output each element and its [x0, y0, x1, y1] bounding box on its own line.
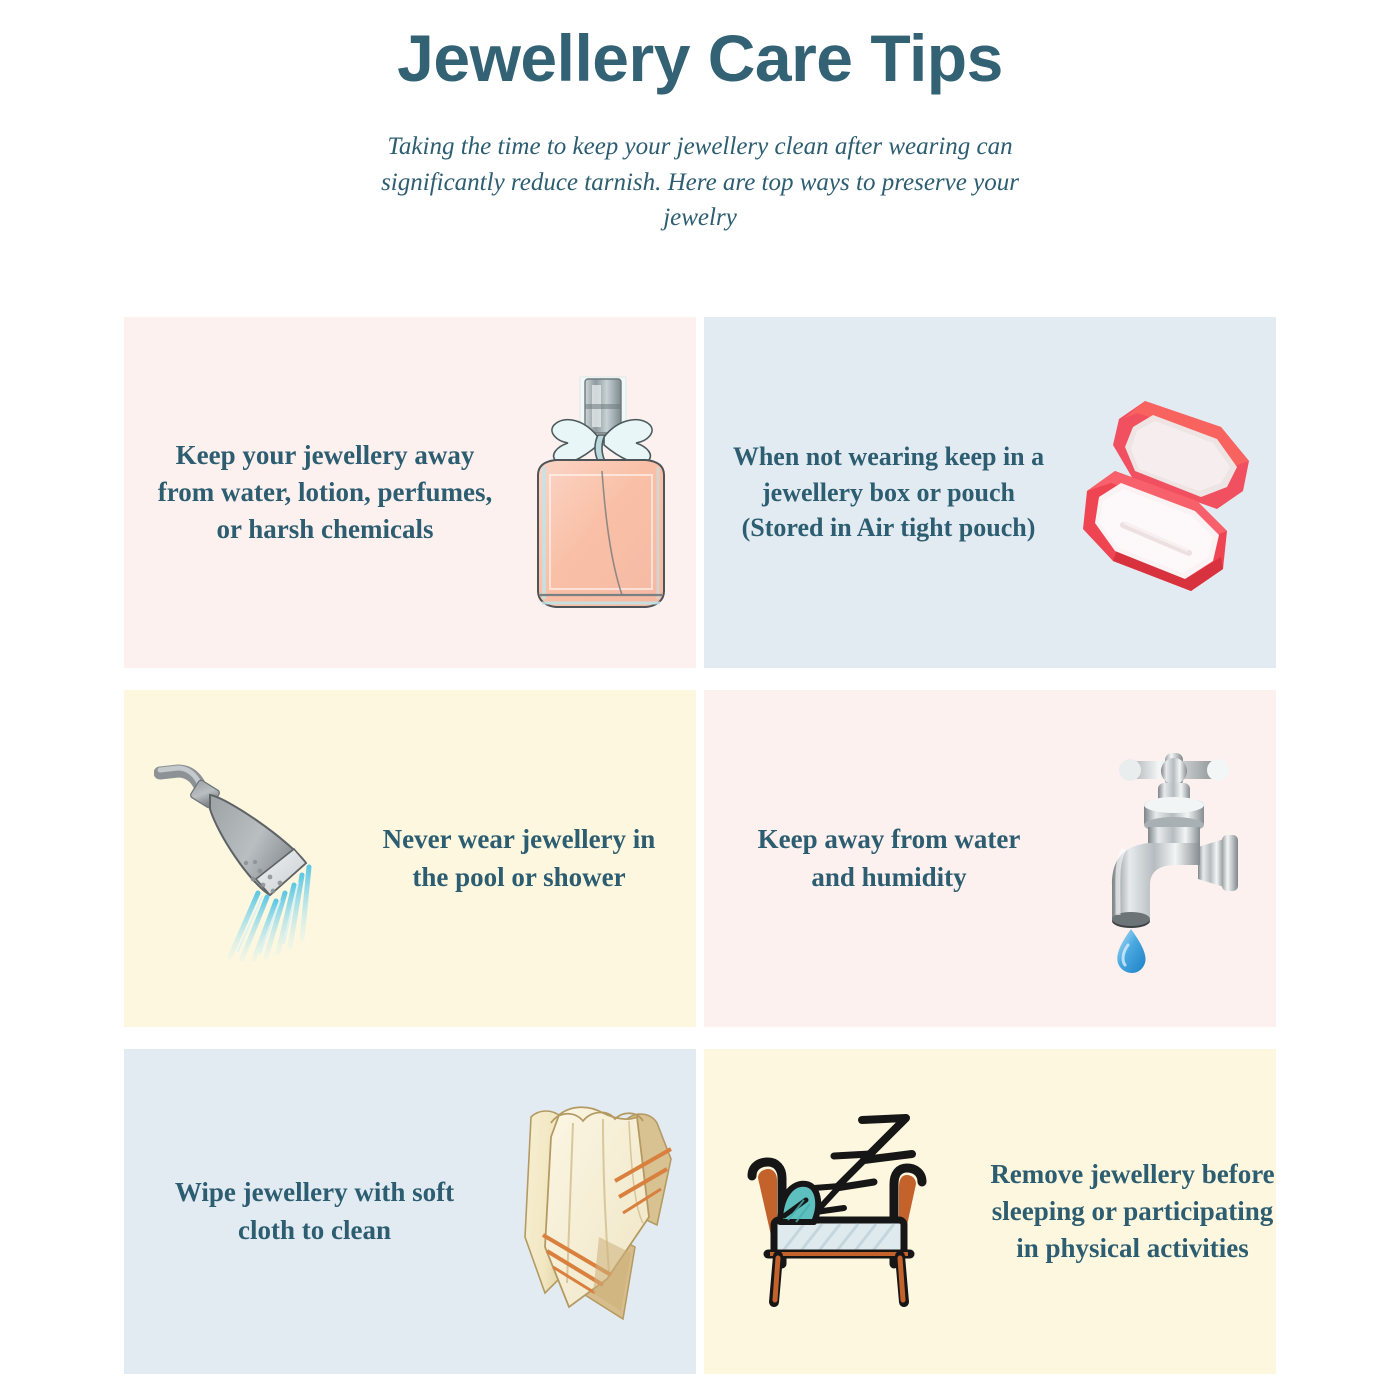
- tips-grid: Keep your jewellery away from water, lot…: [124, 317, 1276, 1374]
- card-perfume: Keep your jewellery away from water, lot…: [124, 317, 696, 668]
- ring-box-icon: [1071, 383, 1276, 608]
- card-cloth: Wipe jewellery with soft cloth to clean: [124, 1049, 696, 1374]
- card-sleep-text: Remove jewellery before sleeping or part…: [989, 1156, 1276, 1268]
- polishing-cloth-icon: [511, 1097, 696, 1327]
- header: Jewellery Care Tips Taking the time to k…: [0, 24, 1400, 236]
- infographic-page: Jewellery Care Tips Taking the time to k…: [0, 0, 1400, 1400]
- bed-sleeping-icon: [734, 1104, 949, 1319]
- card-jewellery-box-text: When not wearing keep in a jewellery box…: [728, 439, 1049, 547]
- card-sleep: Remove jewellery before sleeping or part…: [704, 1049, 1276, 1374]
- perfume-bottle-icon: [506, 363, 696, 623]
- card-humidity-text: Keep away from water and humidity: [744, 821, 1034, 896]
- card-jewellery-box: When not wearing keep in a jewellery box…: [704, 317, 1276, 668]
- card-shower: Never wear jewellery in the pool or show…: [124, 690, 696, 1027]
- card-perfume-text: Keep your jewellery away from water, lot…: [150, 437, 500, 549]
- page-subtitle: Taking the time to keep your jewellery c…: [380, 129, 1020, 236]
- card-cloth-text: Wipe jewellery with soft cloth to clean: [166, 1174, 463, 1249]
- card-humidity: Keep away from water and humidity: [704, 690, 1276, 1027]
- faucet-drip-icon: [1072, 739, 1262, 979]
- card-shower-text: Never wear jewellery in the pool or show…: [369, 821, 669, 896]
- page-title: Jewellery Care Tips: [0, 24, 1400, 93]
- shower-head-icon: [154, 751, 349, 961]
